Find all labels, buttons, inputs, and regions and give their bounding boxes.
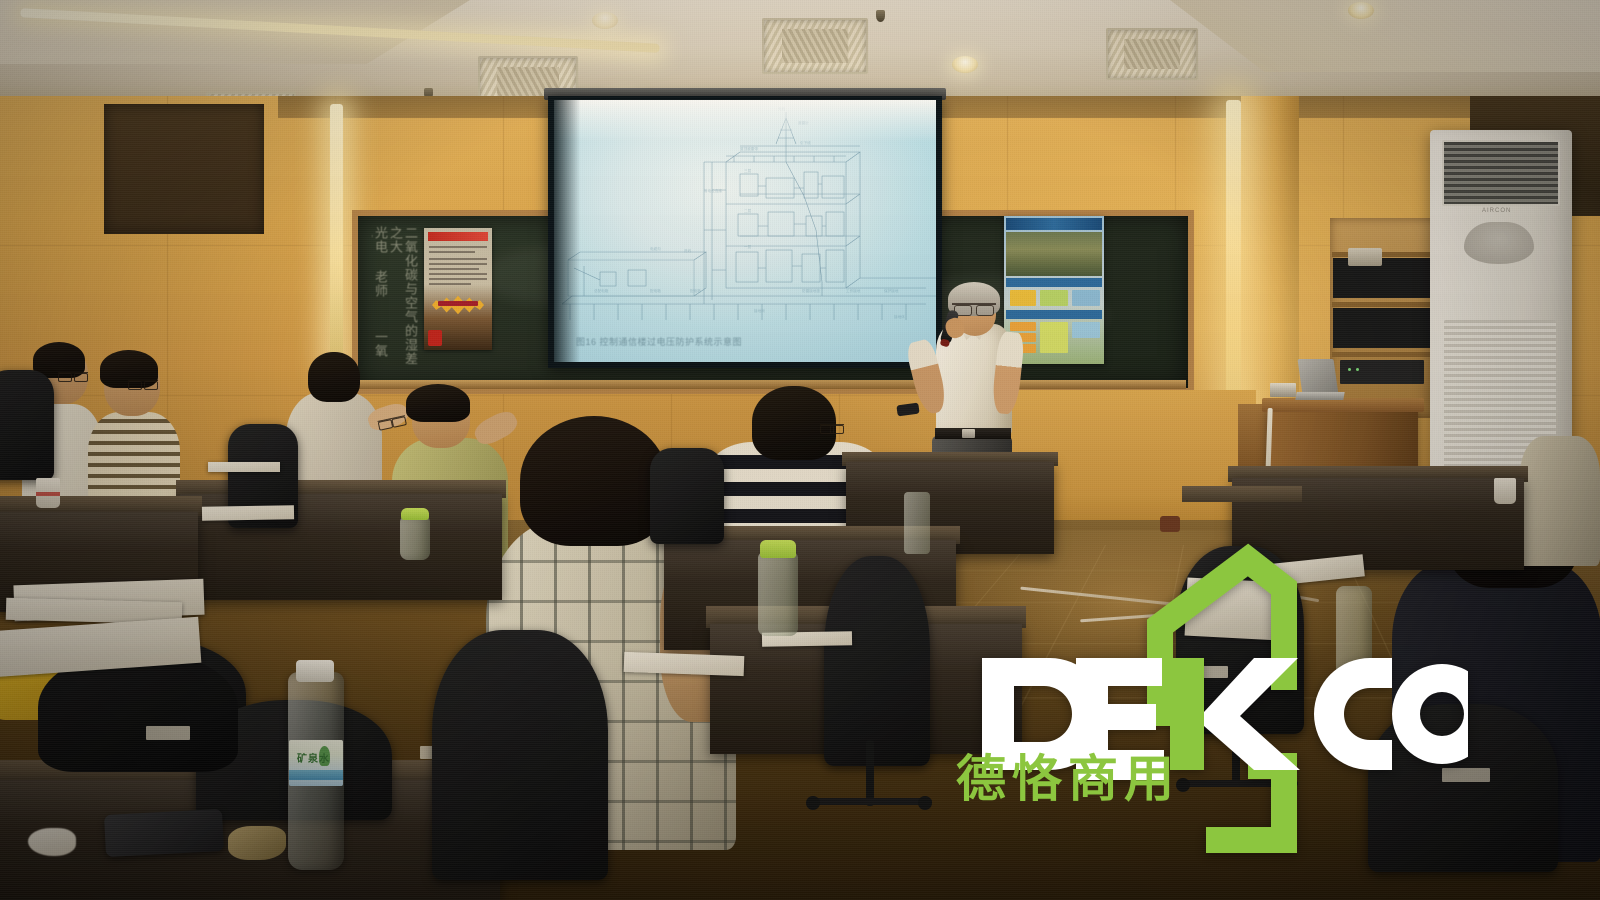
cup-accent-ring [36,492,60,496]
sports-tumbler [758,552,798,636]
svg-text:保护接地: 保护接地 [884,288,899,293]
tumbler-lid [401,508,429,520]
chair-base [812,798,932,805]
svg-text:三层: 三层 [744,168,752,173]
svg-text:一层: 一层 [744,244,752,249]
bottle-cap [296,660,334,682]
eyeglasses-icon [128,380,158,388]
office-chair[interactable] [824,556,930,766]
chalkboard-handwriting: 二氧化碳与空气的湿差之大 光电 老师 一氧化 [372,226,418,366]
floor-object [1160,516,1180,532]
sprinkler-head-icon [876,10,885,22]
bottle-label: 矿泉水 [289,740,343,786]
office-chair[interactable] [650,448,724,544]
downlight-icon [592,12,618,29]
chair-stem [866,740,874,806]
downlight-icon [1348,2,1374,19]
ac-brand-label: AIRCON [1482,208,1511,214]
svg-text:屋顶避雷带: 屋顶避雷带 [740,146,758,151]
hvac-diffuser [1106,28,1198,80]
svg-text:电缆沟: 电缆沟 [650,246,661,251]
svg-text:二层: 二层 [744,208,752,213]
acoustic-panel [104,104,264,234]
ac-control-panel[interactable] [1464,222,1534,264]
svg-text:进线: 进线 [684,248,692,253]
svg-text:总配电箱: 总配电箱 [594,288,609,293]
attendee-head [520,416,668,546]
attendee-hair [406,384,470,422]
belt-buckle [962,429,975,438]
dekco-logo [948,540,1468,870]
svg-text:防雷接地极: 防雷接地极 [802,288,820,293]
handout-papers [624,652,745,676]
chalk-tray [350,380,1186,389]
svg-text:等电位连接: 等电位连接 [704,188,722,193]
vertical-cove-light [330,104,343,366]
svg-text:配电箱: 配电箱 [650,288,661,293]
podium-containers [1270,383,1296,397]
watermark-chinese-text: 德恪商用 [956,752,1256,806]
screen-edge-shadow [554,100,580,362]
svg-text:配电箱: 配电箱 [690,288,701,293]
svg-text:接地体: 接地体 [894,314,905,319]
handout-papers [208,462,280,472]
office-chair[interactable] [432,630,608,880]
keyring [228,826,286,860]
svg-text:工作接地: 工作接地 [846,288,861,293]
attendee-head [308,352,360,402]
ac-top-vent [1442,140,1560,206]
tissue [28,828,76,856]
hvac-diffuser [762,18,868,74]
handout-papers [202,505,294,521]
clear-bottle [904,492,930,554]
safety-notice-poster [424,228,492,350]
sports-tumbler [400,516,430,560]
tumbler-lid [760,540,796,558]
eyeglasses-icon [820,424,844,432]
laptop-base [1295,392,1344,400]
desk-phone[interactable] [1348,248,1382,266]
office-chair[interactable] [0,370,54,480]
watermark-logo: 德恪商用 [948,540,1468,870]
smartphone[interactable] [104,809,224,857]
presenter-laptop[interactable] [1297,359,1338,395]
screen-glare [554,100,936,142]
paper-cup [1494,478,1516,504]
chair-caster [806,796,820,810]
eyeglasses-icon [952,303,996,314]
eyeglasses-icon [58,372,88,380]
attendee-torso [1520,436,1600,566]
bag-tag [146,726,190,740]
chair-caster [918,796,932,810]
equipment-rack [1330,218,1440,418]
downlight-icon [952,56,978,73]
projection-screen: 天线 避雷针 引下线 屋顶避雷带 等电位连接 三层 二层 一层 电缆沟 进线 总… [554,100,936,362]
svg-text:接地网: 接地网 [754,308,765,313]
bottle-label-text: 矿泉水 [297,750,330,765]
photo-canvas: 二氧化碳与空气的湿差之大 光电 老师 一氧化 [0,0,1600,900]
slide-caption: 图16 控制通信楼过电压防护系统示意图 [576,335,896,348]
desk-surface [1182,486,1302,502]
podium-top [1262,398,1424,412]
attendee-head [752,386,836,460]
